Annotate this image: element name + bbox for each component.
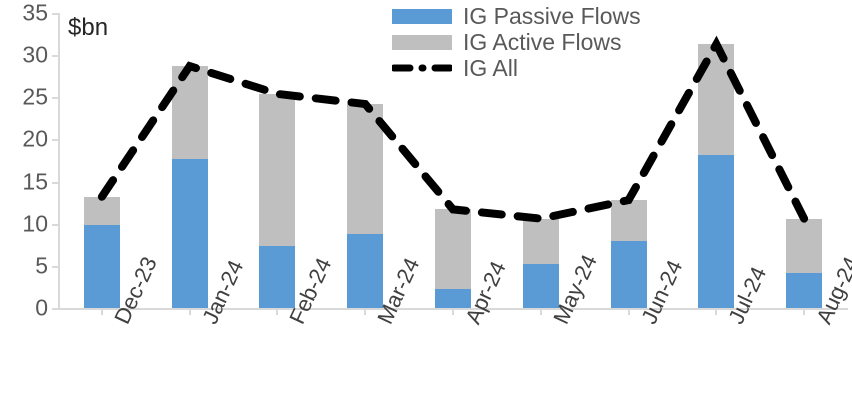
bar-segment-passive xyxy=(259,246,295,308)
x-axis-tick-mark xyxy=(101,310,103,315)
chart-legend: IG Passive Flows IG Active Flows IG All xyxy=(392,4,692,82)
x-axis-tick-mark xyxy=(452,310,454,315)
bar-segment-passive xyxy=(611,241,647,308)
x-axis-tick-mark xyxy=(540,310,542,315)
x-axis-tick-mark xyxy=(715,310,717,315)
bar-stack xyxy=(259,94,295,308)
bar-stack xyxy=(523,219,559,308)
bar-segment-passive xyxy=(698,155,734,308)
bar-stack xyxy=(84,197,120,308)
bar-segment-active xyxy=(523,219,559,265)
bar-stack xyxy=(698,44,734,308)
bar-segment-active xyxy=(786,219,822,273)
y-axis-tick-label: 10 xyxy=(6,212,48,235)
y-axis-tick-label: 25 xyxy=(6,86,48,109)
bar-stack xyxy=(611,200,647,308)
x-axis-tick-mark xyxy=(276,310,278,315)
x-axis-tick-mark xyxy=(628,310,630,315)
bar-segment-passive xyxy=(523,264,559,308)
legend-label-active: IG Active Flows xyxy=(463,31,621,54)
legend-label-ig-all: IG All xyxy=(463,57,518,80)
bar-segment-passive xyxy=(84,225,120,308)
legend-item-ig-passive-flows: IG Passive Flows xyxy=(392,4,692,28)
legend-swatch-icon-active xyxy=(392,35,452,50)
bar-segment-active xyxy=(611,200,647,241)
bar-segment-active xyxy=(698,44,734,154)
bar-stack xyxy=(786,219,822,308)
bar-segment-active xyxy=(347,104,383,234)
legend-item-ig-all: IG All xyxy=(392,56,692,80)
legend-item-ig-active-flows: IG Active Flows xyxy=(392,30,692,54)
bar-segment-active xyxy=(259,94,295,246)
chart-container: 35302520151050 $bn Dec-23Jan-24Feb-24Mar… xyxy=(0,0,852,417)
bar-stack xyxy=(435,209,471,308)
bar-stack xyxy=(347,104,383,308)
y-axis-tick-label: 20 xyxy=(6,128,48,151)
bar-segment-active xyxy=(84,197,120,226)
x-axis-tick-mark xyxy=(364,310,366,315)
legend-swatch-icon-passive xyxy=(392,9,452,24)
bar-segment-passive xyxy=(347,234,383,308)
bar-segment-active xyxy=(172,66,208,159)
y-axis-tick-label: 30 xyxy=(6,44,48,67)
y-axis-tick-label: 0 xyxy=(6,297,48,320)
legend-dashed-line-icon xyxy=(392,60,452,76)
legend-label-passive: IG Passive Flows xyxy=(463,5,641,28)
x-axis-tick-mark xyxy=(803,310,805,315)
bar-stack xyxy=(172,66,208,308)
y-axis-tick-label: 5 xyxy=(6,254,48,277)
bar-segment-passive xyxy=(172,159,208,308)
y-axis-tick-label: 15 xyxy=(6,170,48,193)
y-axis-tick-label: 35 xyxy=(6,2,48,25)
bar-segment-active xyxy=(435,209,471,288)
y-axis-tick-labels: 35302520151050 xyxy=(0,13,48,308)
x-axis-tick-mark xyxy=(189,310,191,315)
